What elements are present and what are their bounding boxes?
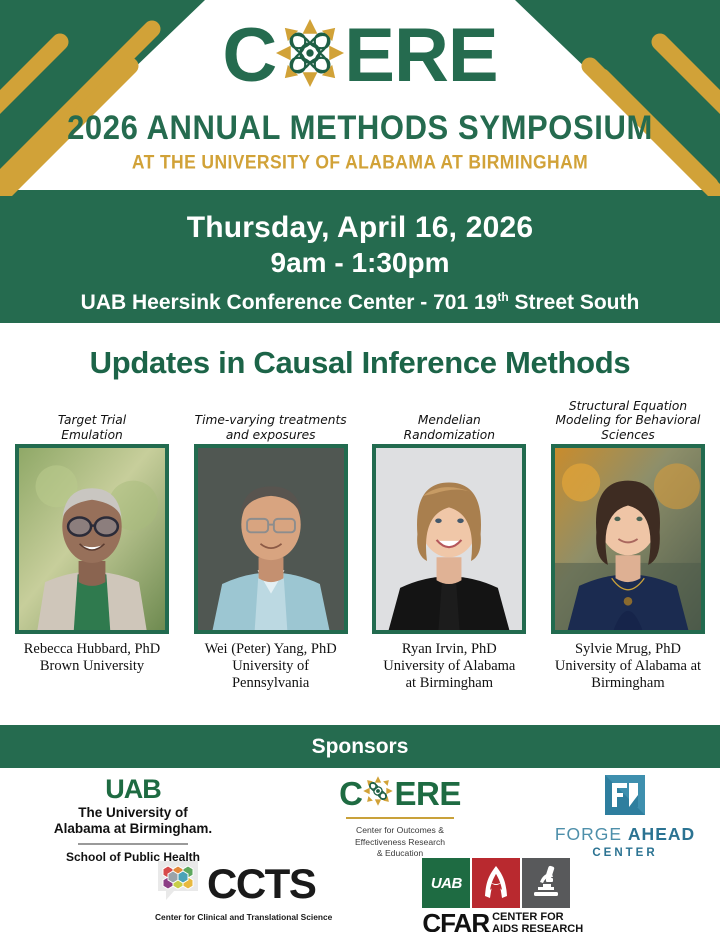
uab-full-name: The University of Alabama at Birmingham. [18, 805, 248, 837]
speaker-affiliation-1: University of Alabama [383, 658, 515, 674]
speaker-name: Sylvie Mrug, PhD [575, 641, 681, 657]
speaker-photo [551, 444, 705, 634]
coere-tagline: Center for Outcomes & Effectiveness Rese… [300, 825, 500, 860]
coere-sponsor-letters-ere: ERE [394, 777, 460, 811]
speaker-card: Target Trial Emulation [8, 398, 176, 692]
coere-tagline-line1: Center for Outcomes & [356, 825, 444, 835]
sponsor-forge-ahead-logo: FORGE AHEAD CENTER [530, 775, 720, 859]
speaker-card: Structural Equation Modeling for Behavio… [544, 398, 712, 692]
speaker-affiliation-2: Birmingham [591, 675, 664, 691]
forge-word: FORGE [555, 824, 628, 844]
event-details-banner: Thursday, April 16, 2026 9am - 1:30pm UA… [0, 196, 720, 323]
speaker-affiliation-1: Brown University [40, 658, 144, 674]
sponsor-ccts-logo: CCTS Center for Clinical and Translation… [155, 858, 332, 922]
event-location-prefix: UAB Heersink Conference Center - 701 19 [81, 291, 498, 314]
sponsor-cfar-logo: UAB [422, 858, 583, 932]
event-date: Thursday, April 16, 2026 [0, 210, 720, 246]
uab-divider [78, 843, 188, 845]
speaker-photo [15, 444, 169, 634]
speaker-affiliation-2: at Birmingham [406, 675, 493, 691]
ccts-acronym: CCTS [207, 863, 315, 905]
speaker-topic-line1: Target Trial [58, 413, 126, 427]
sponsors-heading: Sponsors [312, 735, 409, 759]
event-location-suffix: Street South [509, 291, 640, 314]
speaker-card: Mendelian Randomization [365, 398, 533, 692]
coere-tagline-line3: & Education [377, 848, 423, 858]
speaker-topic-line1: Structural Equation [569, 399, 687, 413]
speaker-topic: Mendelian Randomization [404, 398, 495, 444]
event-location: UAB Heersink Conference Center - 701 19t… [0, 282, 720, 318]
cfar-tagline-line2: AIDS RESEARCH [492, 923, 583, 932]
speaker-name: Rebecca Hubbard, PhD [24, 641, 161, 657]
ccts-mark-row: CCTS [155, 858, 332, 909]
speaker-topic-line1: Mendelian [418, 413, 481, 427]
speaker-name: Wei (Peter) Yang, PhD [205, 641, 337, 657]
uab-wordmark: UAB [18, 775, 248, 803]
symposium-poster: C [0, 0, 720, 932]
coere-logo: C [0, 16, 720, 95]
speaker-photo [194, 444, 348, 634]
cfar-tagline: CENTER FOR AIDS RESEARCH [492, 911, 583, 932]
coere-sponsor-letter-c: C [339, 777, 362, 811]
speaker-name-affiliation: Rebecca Hubbard, PhD Brown University [24, 641, 161, 675]
cfar-tiles: UAB [422, 858, 583, 908]
speaker-topic-line3: Sciences [601, 428, 655, 442]
speaker-card: Time-varying treatments and exposures [187, 398, 355, 692]
forge-ahead-square-icon [605, 802, 645, 819]
cfar-uab-text: UAB [431, 875, 462, 892]
speaker-topic-line2: Emulation [61, 428, 123, 442]
coere-sponsor-medallion-icon [362, 775, 394, 812]
speaker-topic-line2: Modeling for Behavioral [556, 413, 701, 427]
cfar-uab-tile: UAB [422, 858, 470, 908]
event-time: 9am - 1:30pm [0, 246, 720, 280]
speaker-affiliation-1: University of Alabama at [555, 658, 701, 674]
microscope-icon [530, 862, 562, 905]
forge-ahead-wordmark: FORGE AHEAD [530, 824, 720, 845]
uab-name-line2: Alabama at Birmingham. [54, 821, 212, 836]
speaker-affiliation-2: Pennsylvania [232, 675, 309, 691]
speakers-row: Target Trial Emulation [8, 398, 712, 692]
cfar-wordmark-row: CFAR CENTER FOR AIDS RESEARCH [422, 910, 583, 932]
speaker-topic-line1: Time-varying treatments [195, 413, 347, 427]
symposium-title: 2026 ANNUAL METHODS SYMPOSIUM [0, 108, 720, 148]
speaker-name: Ryan Irvin, PhD [402, 641, 497, 657]
speaker-affiliation-1: University of [232, 658, 309, 674]
sponsor-coere-logo: C [300, 775, 500, 860]
sponsors-heading-bar: Sponsors [0, 725, 720, 768]
speaker-name-affiliation: Sylvie Mrug, PhD University of Alabama a… [555, 641, 701, 692]
aids-ribbon-icon [481, 862, 511, 905]
ahead-word: AHEAD [628, 824, 695, 844]
coere-flower-medallion-icon [273, 16, 347, 95]
coere-tagline-line2: Effectiveness Research [355, 837, 445, 847]
page-title: Updates in Causal Inference Methods [0, 345, 720, 381]
speaker-topic: Structural Equation Modeling for Behavio… [556, 398, 701, 444]
logo-letters-ere: ERE [344, 18, 497, 94]
speaker-topic: Time-varying treatments and exposures [195, 398, 347, 444]
cfar-ribbon-tile [472, 858, 520, 908]
coere-wordmark: C [300, 775, 500, 812]
speaker-topic: Target Trial Emulation [58, 398, 126, 444]
coere-divider [346, 817, 454, 819]
speaker-name-affiliation: Ryan Irvin, PhD University of Alabama at… [383, 641, 515, 692]
sponsor-logos-row-2: CCTS Center for Clinical and Translation… [0, 858, 720, 932]
sponsor-uab-sph-logo: UAB The University of Alabama at Birming… [18, 775, 248, 864]
speaker-name-affiliation: Wei (Peter) Yang, PhD University of Penn… [205, 641, 337, 692]
event-location-ordinal: th [497, 290, 508, 304]
speaker-topic-line2: Randomization [404, 428, 495, 442]
speaker-topic-line2: and exposures [226, 428, 316, 442]
speaker-photo [372, 444, 526, 634]
sponsor-logos-row-1: UAB The University of Alabama at Birming… [0, 775, 720, 864]
uab-name-line1: The University of [78, 805, 188, 820]
logo-letter-c: C [222, 18, 276, 94]
ccts-tagline: Center for Clinical and Translational Sc… [155, 912, 332, 922]
symposium-subtitle: AT THE UNIVERSITY OF ALABAMA AT BIRMINGH… [0, 151, 720, 174]
cfar-microscope-tile [522, 858, 570, 908]
ccts-hexagon-cluster-icon [155, 858, 201, 909]
cfar-tagline-line1: CENTER FOR [492, 911, 564, 923]
cfar-acronym: CFAR [422, 910, 489, 932]
